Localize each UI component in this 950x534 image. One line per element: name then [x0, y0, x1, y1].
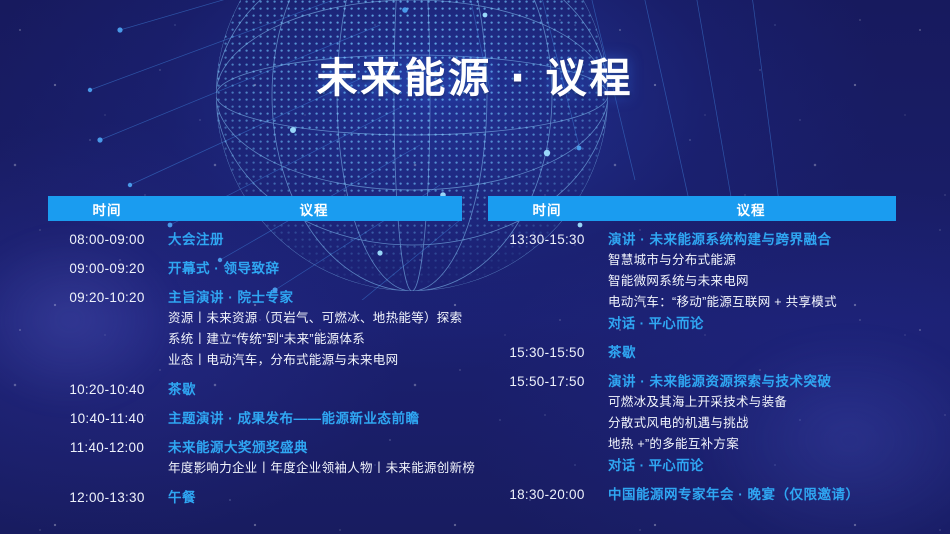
agenda-title: 中国能源网专家年会 · 晚宴（仅限邀请） — [608, 484, 896, 505]
cell-time: 13:30-15:30 — [488, 229, 606, 250]
cell-agenda: 演讲 · 未来能源资源探索与技术突破可燃冰及其海上开采技术与装备分散式风电的机遇… — [606, 371, 896, 476]
column-header-time: 时间 — [48, 199, 166, 219]
cell-time: 11:40-12:00 — [48, 437, 166, 458]
agenda-subitem: 电动汽车：“移动”能源互联网 + 共享模式 — [608, 292, 896, 313]
table-header-row: 时间 议程 — [48, 196, 462, 221]
table-row: 09:00-09:20开幕式 · 领导致辞 — [48, 258, 462, 279]
agenda-title: 主旨演讲 · 院士专家 — [168, 287, 462, 308]
cell-time: 08:00-09:00 — [48, 229, 166, 250]
table-row: 13:30-15:30演讲 · 未来能源系统构建与跨界融合智慧城市与分布式能源智… — [488, 229, 896, 334]
agenda-subitem: 分散式风电的机遇与挑战 — [608, 413, 896, 434]
cell-time: 18:30-20:00 — [488, 484, 606, 505]
cell-agenda: 茶歇 — [166, 379, 462, 400]
column-header-time: 时间 — [488, 199, 606, 219]
cell-agenda: 中国能源网专家年会 · 晚宴（仅限邀请） — [606, 484, 896, 505]
agenda-subitem: 对话 · 平心而论 — [608, 455, 896, 476]
agenda-title: 午餐 — [168, 487, 462, 508]
table-row: 10:40-11:40主题演讲 · 成果发布——能源新业态前瞻 — [48, 408, 462, 429]
agenda-subitem: 智能微网系统与未来电网 — [608, 271, 896, 292]
cell-agenda: 开幕式 · 领导致辞 — [166, 258, 462, 279]
table-row: 12:00-13:30午餐 — [48, 487, 462, 508]
table-row: 15:50-17:50演讲 · 未来能源资源探索与技术突破可燃冰及其海上开采技术… — [488, 371, 896, 476]
table-header-row: 时间 议程 — [488, 196, 896, 221]
agenda-subitem: 对话 · 平心而论 — [608, 313, 896, 334]
cell-time: 15:50-17:50 — [488, 371, 606, 392]
cell-time: 10:40-11:40 — [48, 408, 166, 429]
agenda-title: 大会注册 — [168, 229, 462, 250]
agenda-subitem: 地热 +”的多能互补方案 — [608, 434, 896, 455]
agenda-subitem: 系统丨建立“传统”到“未来”能源体系 — [168, 329, 462, 350]
agenda-table-afternoon: 时间 议程 13:30-15:30演讲 · 未来能源系统构建与跨界融合智慧城市与… — [488, 196, 896, 505]
table-row: 18:30-20:00中国能源网专家年会 · 晚宴（仅限邀请） — [488, 484, 896, 505]
agenda-title: 茶歇 — [168, 379, 462, 400]
cell-time: 10:20-10:40 — [48, 379, 166, 400]
agenda-title: 演讲 · 未来能源资源探索与技术突破 — [608, 371, 896, 392]
page-title: 未来能源 · 议程 — [0, 44, 950, 104]
cell-agenda: 演讲 · 未来能源系统构建与跨界融合智慧城市与分布式能源智能微网系统与未来电网电… — [606, 229, 896, 334]
table-row: 10:20-10:40茶歇 — [48, 379, 462, 400]
cell-time: 09:00-09:20 — [48, 258, 166, 279]
column-header-agenda: 议程 — [606, 199, 896, 219]
cell-agenda: 午餐 — [166, 487, 462, 508]
cell-agenda: 茶歇 — [606, 342, 896, 363]
cell-time: 15:30-15:50 — [488, 342, 606, 363]
table-body: 08:00-09:00大会注册09:00-09:20开幕式 · 领导致辞09:2… — [48, 221, 462, 508]
column-header-agenda: 议程 — [166, 199, 462, 219]
agenda-slide: 未来能源 · 议程 时间 议程 08:00-09:00大会注册09:00-09:… — [0, 0, 950, 534]
cell-agenda: 未来能源大奖颁奖盛典年度影响力企业丨年度企业领袖人物丨未来能源创新榜 — [166, 437, 475, 479]
table-body: 13:30-15:30演讲 · 未来能源系统构建与跨界融合智慧城市与分布式能源智… — [488, 221, 896, 505]
agenda-table-morning: 时间 议程 08:00-09:00大会注册09:00-09:20开幕式 · 领导… — [48, 196, 462, 508]
table-row: 15:30-15:50茶歇 — [488, 342, 896, 363]
agenda-subitem: 资源丨未来资源（页岩气、可燃冰、地热能等）探索 — [168, 308, 462, 329]
cell-agenda: 大会注册 — [166, 229, 462, 250]
cell-agenda: 主旨演讲 · 院士专家资源丨未来资源（页岩气、可燃冰、地热能等）探索系统丨建立“… — [166, 287, 462, 371]
agenda-title: 演讲 · 未来能源系统构建与跨界融合 — [608, 229, 896, 250]
agenda-title: 主题演讲 · 成果发布——能源新业态前瞻 — [168, 408, 462, 429]
agenda-title: 开幕式 · 领导致辞 — [168, 258, 462, 279]
agenda-subitem: 可燃冰及其海上开采技术与装备 — [608, 392, 896, 413]
table-row: 08:00-09:00大会注册 — [48, 229, 462, 250]
agenda-subitem: 年度影响力企业丨年度企业领袖人物丨未来能源创新榜 — [168, 458, 475, 479]
table-row: 09:20-10:20主旨演讲 · 院士专家资源丨未来资源（页岩气、可燃冰、地热… — [48, 287, 462, 371]
cell-agenda: 主题演讲 · 成果发布——能源新业态前瞻 — [166, 408, 462, 429]
agenda-title: 茶歇 — [608, 342, 896, 363]
agenda-subitem: 业态丨电动汽车，分布式能源与未来电网 — [168, 350, 462, 371]
cell-time: 12:00-13:30 — [48, 487, 166, 508]
cell-time: 09:20-10:20 — [48, 287, 166, 308]
agenda-subitem: 智慧城市与分布式能源 — [608, 250, 896, 271]
agenda-title: 未来能源大奖颁奖盛典 — [168, 437, 475, 458]
table-row: 11:40-12:00未来能源大奖颁奖盛典年度影响力企业丨年度企业领袖人物丨未来… — [48, 437, 462, 479]
